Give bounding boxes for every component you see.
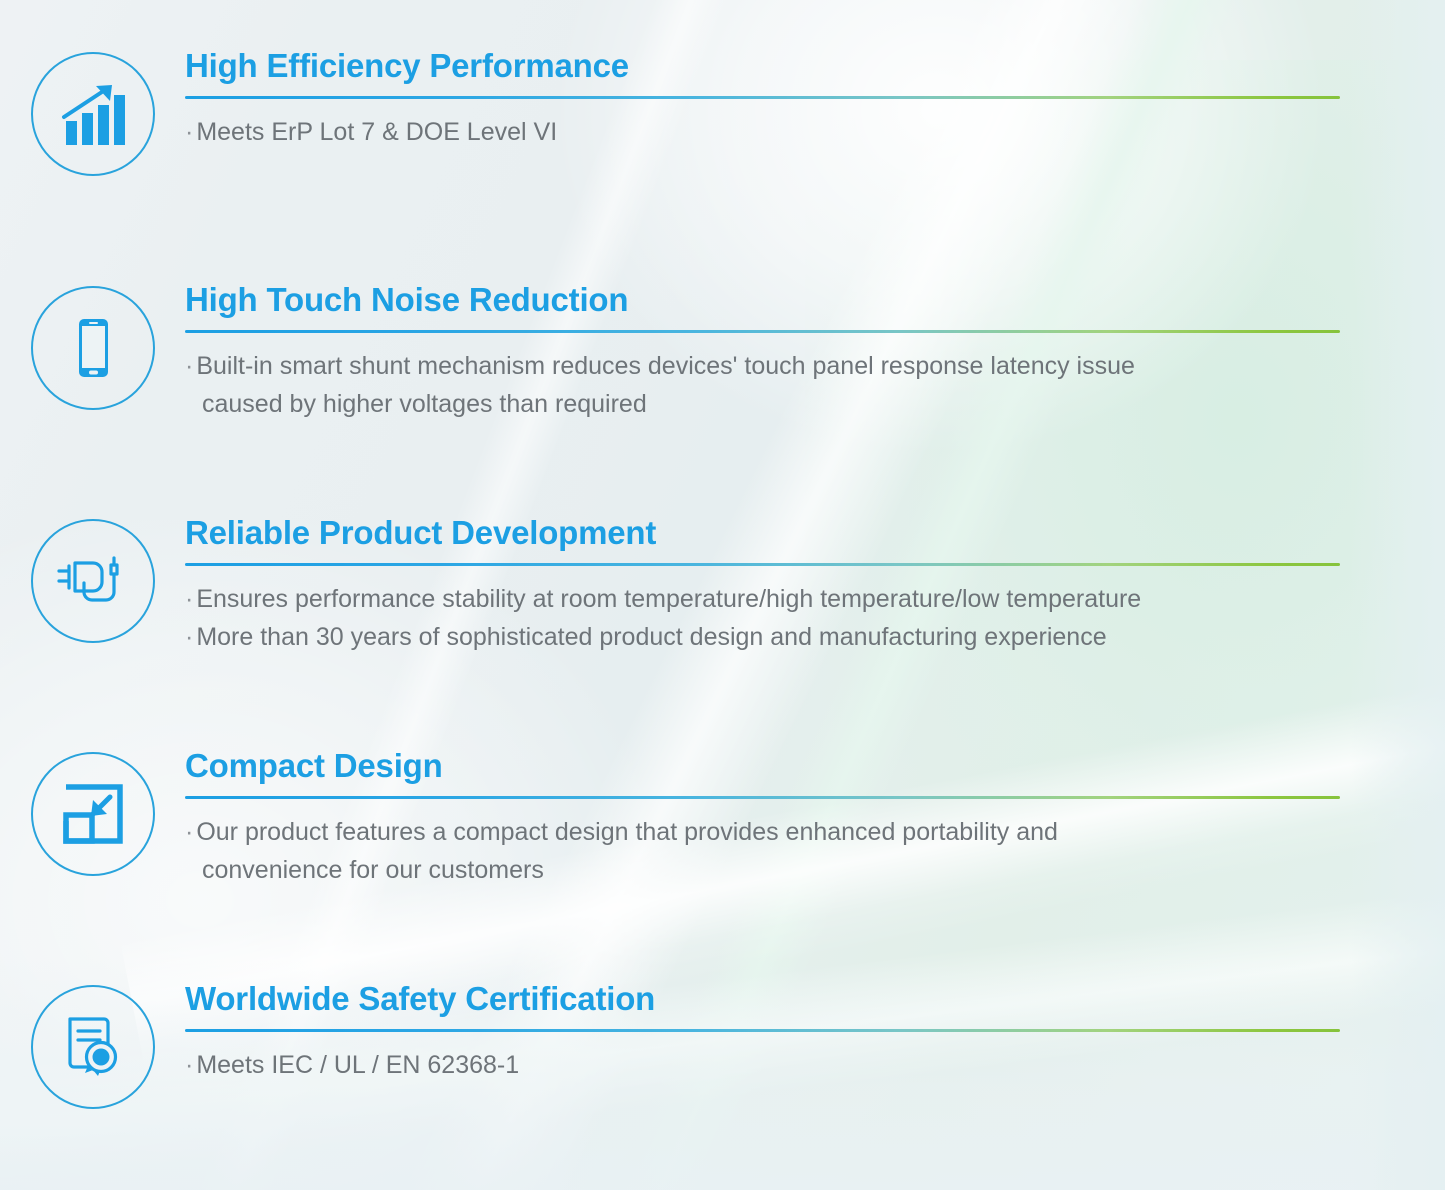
feature-bullet-text: Ensures performance stability at room te…: [196, 585, 1141, 613]
feature-bullet-line: ·Ensures performance stability at room t…: [185, 580, 1365, 618]
feature-item-high-touch-noise-reduction: High Touch Noise Reduction ·Built-in sma…: [0, 282, 1445, 423]
feature-divider: [185, 796, 1340, 799]
feature-text-col: High Efficiency Performance ·Meets ErP L…: [185, 48, 1445, 151]
bullet-dot: ·: [185, 818, 193, 846]
feature-icon-col: [0, 981, 185, 1109]
feature-text-col: Compact Design ·Our product features a c…: [185, 748, 1445, 889]
bullet-dot: ·: [185, 623, 193, 651]
bullet-dot: ·: [185, 1051, 193, 1079]
feature-item-high-efficiency-performance: High Efficiency Performance ·Meets ErP L…: [0, 48, 1445, 176]
feature-bullet-continuation: convenience for our customers: [185, 851, 544, 889]
feature-title: High Efficiency Performance: [185, 48, 1365, 85]
compact-resize-icon: [31, 752, 155, 876]
feature-text-col: High Touch Noise Reduction ·Built-in sma…: [185, 282, 1445, 423]
feature-icon-col: [0, 48, 185, 176]
feature-bullet-line: ·Built-in smart shunt mechanism reduces …: [185, 347, 1365, 385]
feature-body: ·Built-in smart shunt mechanism reduces …: [185, 347, 1365, 423]
feature-item-reliable-product-development: Reliable Product Development ·Ensures pe…: [0, 515, 1445, 656]
power-adapter-icon: [31, 519, 155, 643]
feature-item-worldwide-safety-certification: Worldwide Safety Certification ·Meets IE…: [0, 981, 1445, 1109]
feature-body: ·Meets IEC / UL / EN 62368-1: [185, 1046, 1365, 1084]
feature-text-col: Reliable Product Development ·Ensures pe…: [185, 515, 1445, 656]
feature-bullet-text: Meets IEC / UL / EN 62368-1: [196, 1051, 519, 1079]
feature-body: ·Our product features a compact design t…: [185, 813, 1365, 889]
bullet-dot: ·: [185, 585, 193, 613]
feature-icon-col: [0, 748, 185, 876]
feature-title: Worldwide Safety Certification: [185, 981, 1365, 1018]
feature-bullet-text: Our product features a compact design th…: [196, 818, 1058, 846]
feature-icon-col: [0, 282, 185, 410]
bullet-dot: ·: [185, 352, 193, 380]
feature-divider: [185, 1029, 1340, 1032]
feature-icon-col: [0, 515, 185, 643]
feature-bullet-continuation: caused by higher voltages than required: [185, 385, 647, 423]
feature-body: ·Ensures performance stability at room t…: [185, 580, 1365, 656]
feature-body: ·Meets ErP Lot 7 & DOE Level VI: [185, 113, 1365, 151]
feature-bullet-line: ·Meets IEC / UL / EN 62368-1: [185, 1046, 1365, 1084]
feature-bullet-text: More than 30 years of sophisticated prod…: [196, 623, 1106, 651]
feature-list: High Efficiency Performance ·Meets ErP L…: [0, 0, 1445, 1190]
feature-divider: [185, 563, 1340, 566]
feature-title: Compact Design: [185, 748, 1365, 785]
feature-divider: [185, 96, 1340, 99]
feature-divider: [185, 330, 1340, 333]
feature-title: High Touch Noise Reduction: [185, 282, 1365, 319]
feature-bullet-line: ·Our product features a compact design t…: [185, 813, 1365, 851]
feature-bullet-text: Meets ErP Lot 7 & DOE Level VI: [196, 118, 557, 146]
feature-bullet-line: ·More than 30 years of sophisticated pro…: [185, 618, 1365, 656]
bullet-dot: ·: [185, 118, 193, 146]
feature-bullet-line: ·Meets ErP Lot 7 & DOE Level VI: [185, 113, 1365, 151]
certificate-award-icon: [31, 985, 155, 1109]
feature-bullet-text: Built-in smart shunt mechanism reduces d…: [196, 352, 1135, 380]
feature-title: Reliable Product Development: [185, 515, 1365, 552]
feature-item-compact-design: Compact Design ·Our product features a c…: [0, 748, 1445, 889]
smartphone-icon: [31, 286, 155, 410]
feature-text-col: Worldwide Safety Certification ·Meets IE…: [185, 981, 1445, 1084]
bar-chart-growth-icon: [31, 52, 155, 176]
